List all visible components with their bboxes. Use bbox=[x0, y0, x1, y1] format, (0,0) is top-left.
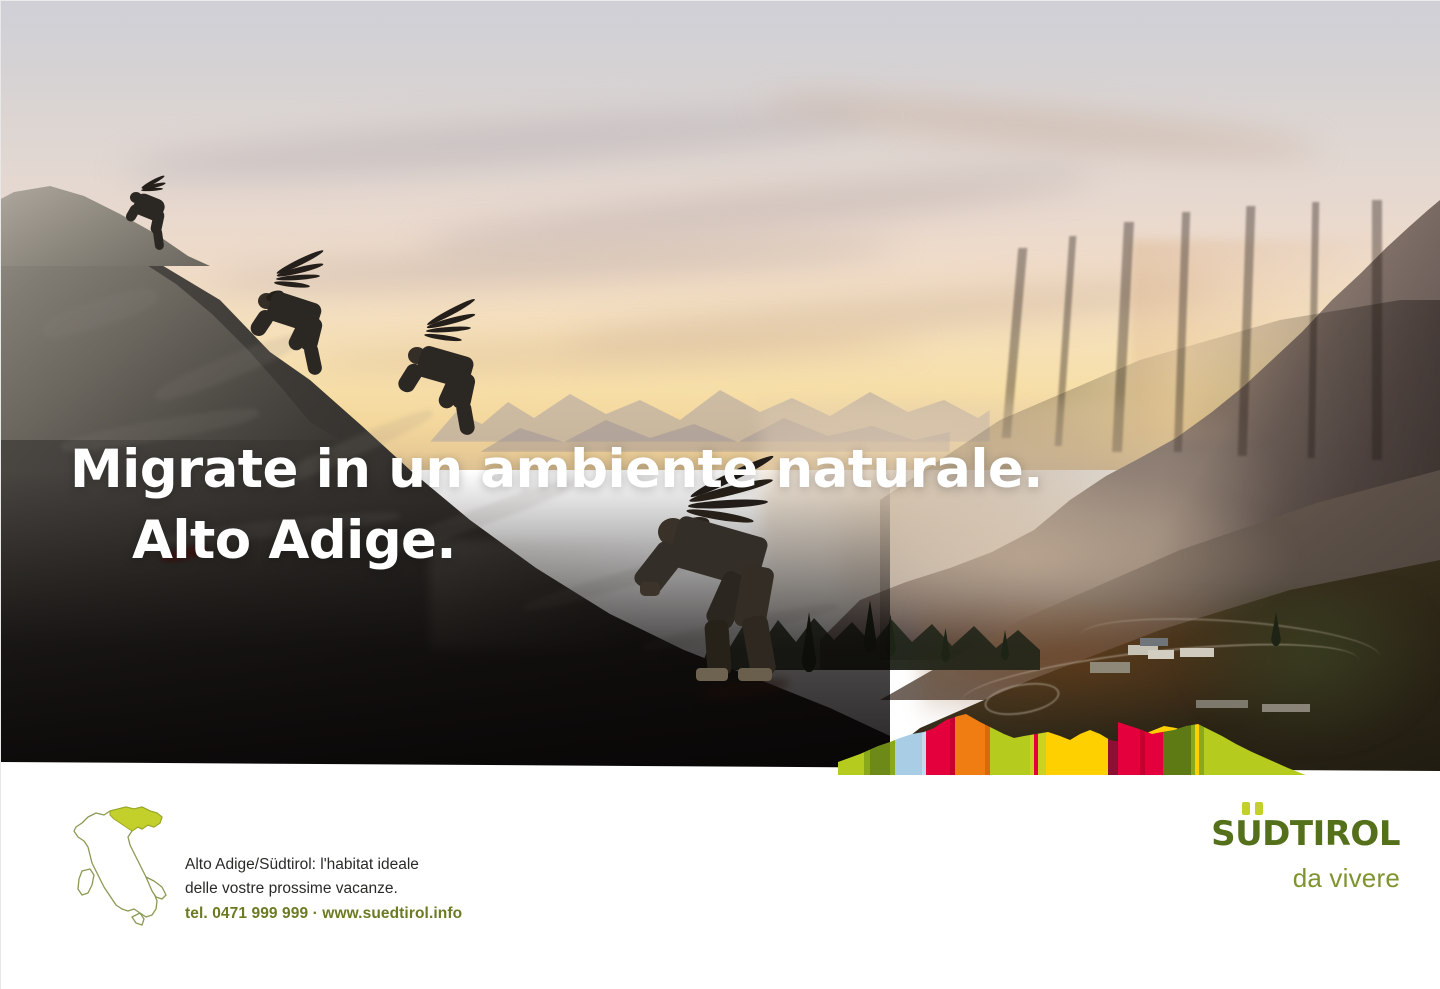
climber-leg-lower bbox=[455, 400, 476, 436]
climber-boot bbox=[696, 668, 728, 681]
climber-second bbox=[250, 255, 360, 375]
valley-building bbox=[1090, 662, 1130, 673]
brand-mountain-graphic-right bbox=[1118, 712, 1308, 778]
climber-top bbox=[128, 178, 188, 250]
mountain-color-bands-right bbox=[1118, 712, 1308, 778]
climber-leg-lower bbox=[303, 342, 323, 376]
sudtirol-logo[interactable]: sudtirol da vivere bbox=[1180, 805, 1400, 915]
poster: Migrate in un ambiente naturale. Alto Ad… bbox=[0, 0, 1440, 989]
ibex-horn-icon bbox=[141, 187, 163, 192]
footer-contact[interactable]: tel. 0471 999 999 · www.suedtirol.info bbox=[185, 905, 685, 923]
footer-tagline: Alto Adige/Südtirol: l'habitat ideale de… bbox=[185, 853, 615, 901]
valley-building bbox=[1148, 650, 1174, 659]
hero-photo: Migrate in un ambiente naturale. Alto Ad… bbox=[0, 0, 1440, 775]
italy-map-icon bbox=[58, 797, 178, 927]
umlaut-icon bbox=[1242, 802, 1268, 815]
valley-building bbox=[1196, 700, 1248, 708]
footer: Alto Adige/Südtirol: l'habitat ideale de… bbox=[0, 775, 1440, 989]
cliff-stripe bbox=[1372, 200, 1382, 460]
footer-tagline-line-2: delle vostre prossime vacanze. bbox=[185, 877, 615, 901]
logo-wordmark-text: sudtirol bbox=[1211, 801, 1400, 857]
logo-tagline: da vivere bbox=[1180, 863, 1400, 894]
climber-boot bbox=[738, 668, 772, 681]
ibex-horn-icon bbox=[274, 280, 310, 289]
logo-wordmark: sudtirol bbox=[1211, 805, 1400, 853]
climber-foreground bbox=[640, 470, 830, 690]
climber-third bbox=[398, 305, 513, 435]
footer-tagline-line-1: Alto Adige/Südtirol: l'habitat ideale bbox=[185, 853, 615, 877]
valley-building bbox=[1262, 704, 1310, 712]
valley-haze bbox=[840, 470, 1300, 650]
climber-hand bbox=[640, 582, 660, 596]
ibex-horn-icon bbox=[424, 332, 462, 342]
climber-leg-lower bbox=[153, 227, 165, 250]
